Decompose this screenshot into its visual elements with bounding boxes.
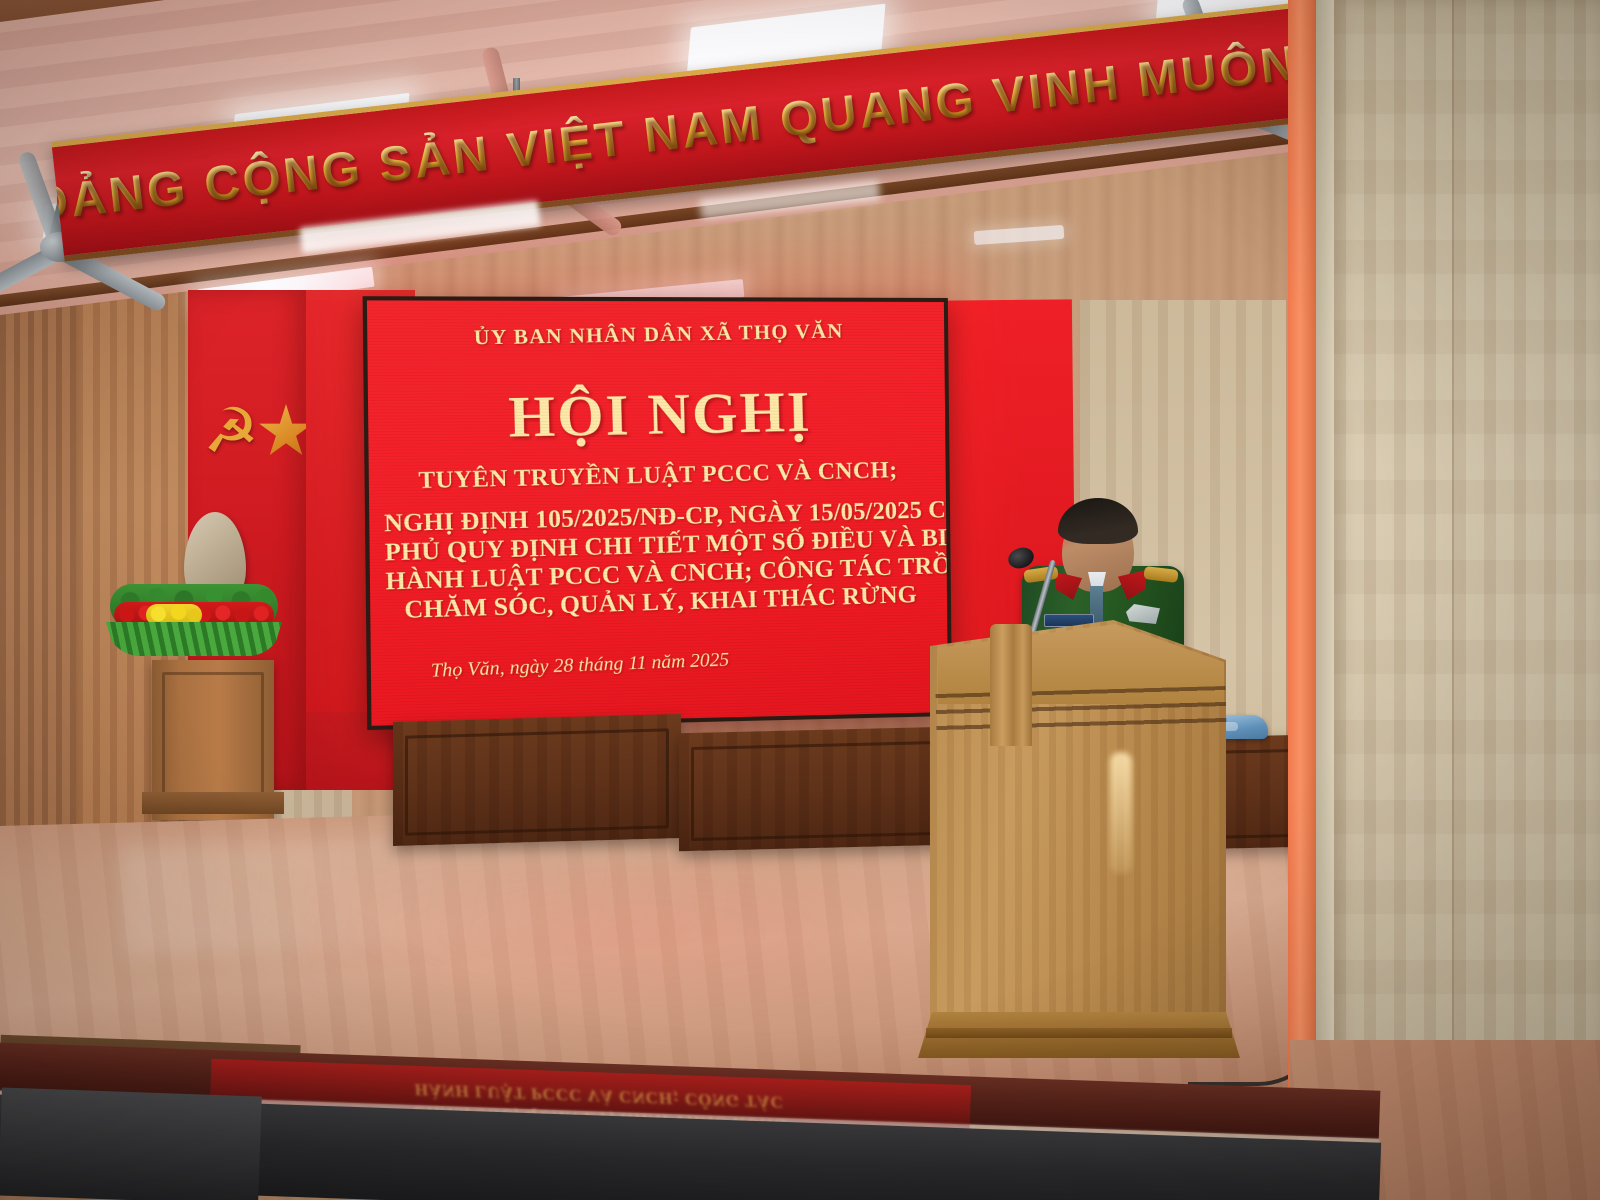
bust-pedestal-base <box>142 792 284 814</box>
led-screen-frame: ỦY BAN NHÂN DÂN XÃ THỌ VĂN HỘI NGHỊ TUYÊ… <box>363 296 953 730</box>
hammer-and-sickle-icon: ☭ <box>200 404 262 464</box>
fern-fronds <box>106 622 282 656</box>
podium-trim-lines <box>936 686 1227 732</box>
screen-subtitle-block: TUYÊN TRUYỀN LUẬT PCCC VÀ CNCH; NGHỊ ĐỊN… <box>383 456 935 625</box>
screen-main-title: HỘI NGHỊ <box>508 379 813 451</box>
screen-date-line: Thọ Văn, ngày 28 tháng 11 năm 2025 <box>371 641 948 685</box>
screen-organization-line: ỦY BAN NHÂN DÂN XÃ THỌ VĂN <box>474 320 844 350</box>
podium-center-column <box>990 624 1032 746</box>
officer-hair <box>1058 498 1138 544</box>
podium-base-trim <box>926 1028 1232 1038</box>
screen-subtitle-line: TUYÊN TRUYỀN LUẬT PCCC VÀ CNCH; <box>383 456 931 496</box>
stage-table <box>679 727 949 852</box>
stage-table <box>393 714 681 846</box>
right-column-red-edge <box>1288 0 1318 1110</box>
conference-hall-photo: ĐẢNG CỘNG SẢN VIỆT NAM QUANG VINH MUÔN N… <box>0 0 1600 1200</box>
right-column-seam <box>1452 0 1454 1200</box>
foreground-dark-floor-left <box>0 1087 262 1200</box>
right-column-light-edge <box>1316 0 1336 1110</box>
podium-light-reflection <box>1110 752 1132 874</box>
right-wood-column <box>1334 0 1600 1200</box>
flower-arrangement <box>110 578 278 650</box>
led-screen: ỦY BAN NHÂN DÂN XÃ THỌ VĂN HỘI NGHỊ TUYÊ… <box>367 300 948 725</box>
